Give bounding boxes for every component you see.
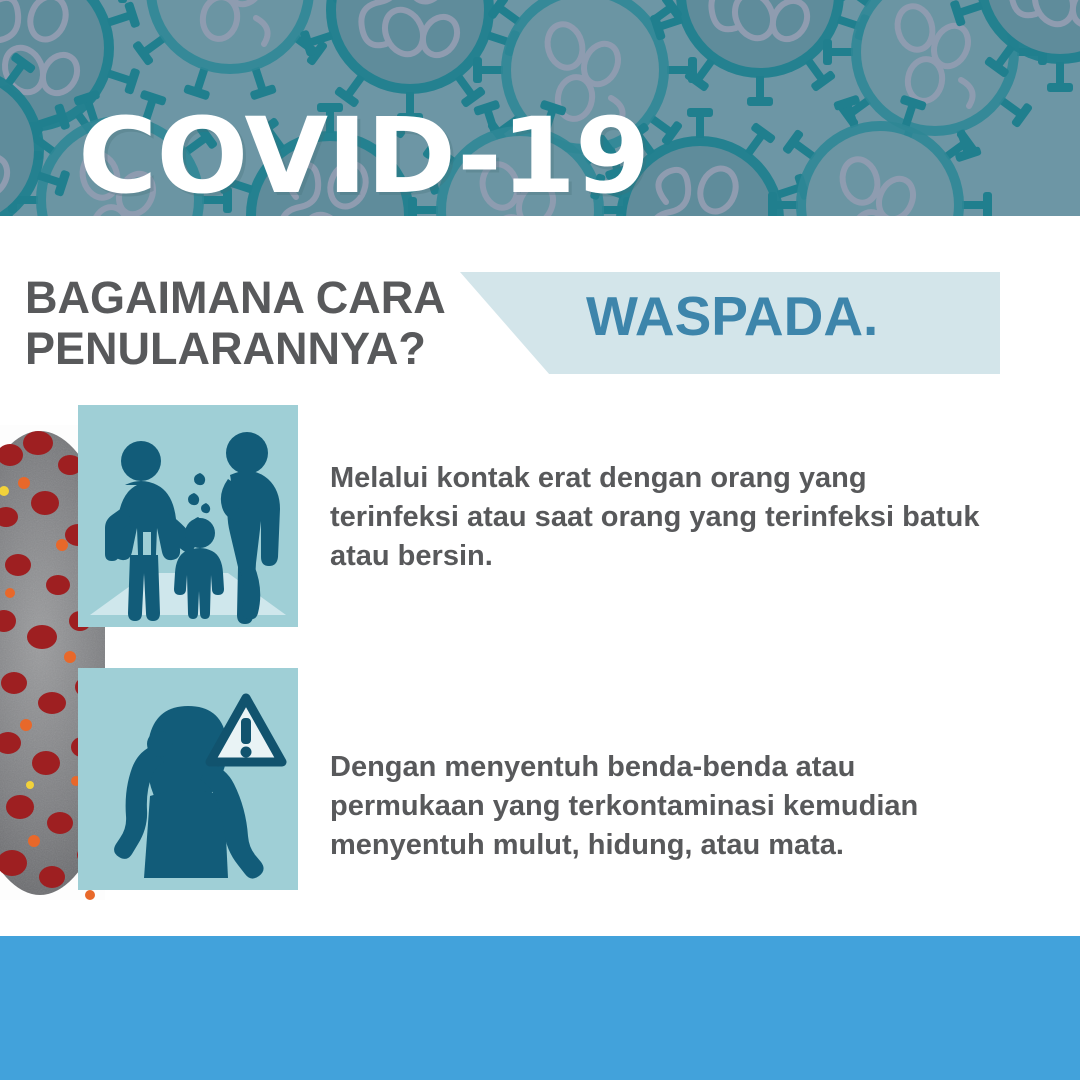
transmission-icon-box-1 bbox=[78, 405, 298, 627]
coughing-person-near-family-icon bbox=[78, 405, 298, 627]
header-banner: COVID-19 bbox=[0, 0, 1080, 216]
waspada-banner-label: WASPADA. bbox=[586, 285, 878, 347]
page-title: COVID-19 bbox=[78, 104, 649, 208]
transmission-text-2: Dengan menyentuh benda-benda atau permuk… bbox=[330, 748, 1010, 865]
transmission-icon-box-2 bbox=[78, 668, 298, 890]
footer-bar: World Health Organization Indonesia WASP… bbox=[0, 936, 1080, 1080]
headline-question: BAGAIMANA CARA PENULARANNYA? bbox=[25, 272, 465, 374]
touching-face-warning-icon bbox=[78, 668, 298, 890]
transmission-text-1: Melalui kontak erat dengan orang yang te… bbox=[330, 459, 990, 576]
covid-infographic-poster: COVID-19 BAGAIMANA CARA PENULARANNYA? WA… bbox=[0, 0, 1080, 1080]
